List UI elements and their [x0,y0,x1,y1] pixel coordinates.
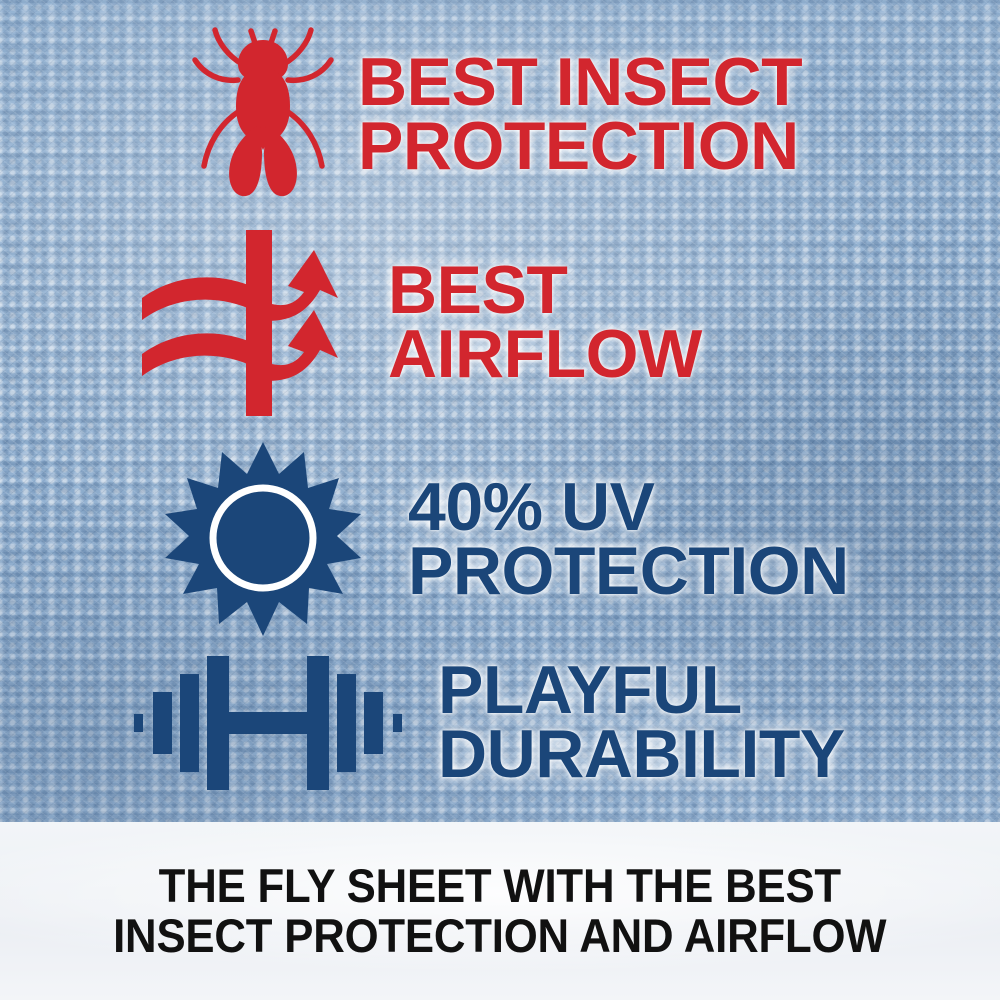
fly-icon [168,20,358,210]
feature-row-insect-protection: BEST INSECT PROTECTION [120,20,802,210]
feature-text-uv-protection: 40% UV PROTECTION [408,476,849,604]
feature-line-1: 40% UV [408,476,849,540]
feature-line-1: BEST INSECT [358,51,802,115]
feature-text-insect-protection: BEST INSECT PROTECTION [358,51,802,179]
feature-row-playful-durability: PLAYFUL DURABILITY [120,648,845,798]
feature-line-2: DURABILITY [438,723,845,787]
caption-bar: THE FLY SHEET WITH THE BEST INSECT PROTE… [0,822,1000,1000]
caption-line-2: INSECT PROTECTION AND AIRFLOW [113,911,886,961]
feature-line-1: PLAYFUL [438,659,845,723]
feature-row-best-airflow: BEST AIRFLOW [120,228,702,418]
caption-line-1: THE FLY SHEET WITH THE BEST [159,861,841,911]
product-feature-infographic: BEST INSECT PROTECTION [0,0,1000,1000]
feature-row-uv-protection: 40% UV PROTECTION [120,440,849,640]
feature-line-2: AIRFLOW [388,323,702,387]
airflow-arrows-icon [138,228,388,418]
sun-uv-icon [158,440,368,640]
feature-text-best-airflow: BEST AIRFLOW [388,259,702,387]
feature-line-2: PROTECTION [358,115,802,179]
barbell-icon [128,648,408,798]
feature-text-playful-durability: PLAYFUL DURABILITY [438,659,845,787]
feature-line-1: BEST [388,259,702,323]
feature-line-2: PROTECTION [408,540,849,604]
